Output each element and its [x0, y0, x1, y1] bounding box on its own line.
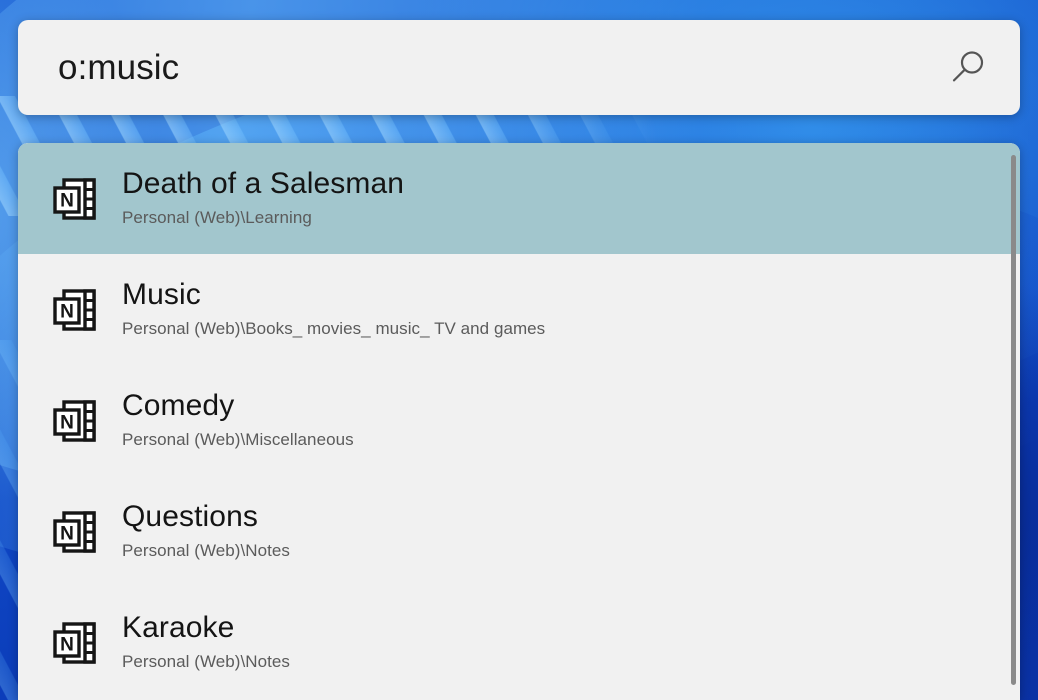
svg-text:N: N [60, 523, 74, 544]
svg-text:N: N [60, 190, 74, 211]
result-row[interactable]: NDeath of a SalesmanPersonal (Web)\Learn… [18, 143, 1020, 254]
desktop-screen: o:music NDeath of a SalesmanPersonal (We… [0, 0, 1038, 700]
onenote-icon: N [48, 393, 104, 449]
result-row[interactable]: NKaraokePersonal (Web)\Notes [18, 587, 1020, 698]
result-subtitle: Personal (Web)\Miscellaneous [122, 427, 354, 453]
search-box[interactable]: o:music [18, 20, 1020, 115]
result-title: Questions [122, 500, 290, 535]
result-row[interactable]: NComedyPersonal (Web)\Miscellaneous [18, 365, 1020, 476]
result-row[interactable]: NQuestionsPersonal (Web)\Notes [18, 476, 1020, 587]
result-text: Death of a SalesmanPersonal (Web)\Learni… [122, 167, 404, 230]
search-results-list: NDeath of a SalesmanPersonal (Web)\Learn… [18, 143, 1020, 700]
result-subtitle: Personal (Web)\Notes [122, 649, 290, 675]
onenote-icon: N [48, 171, 104, 227]
result-text: ComedyPersonal (Web)\Miscellaneous [122, 389, 354, 452]
result-row[interactable]: NMusicPersonal (Web)\Books_ movies_ musi… [18, 254, 1020, 365]
result-text: KaraokePersonal (Web)\Notes [122, 611, 290, 674]
onenote-icon: N [48, 504, 104, 560]
result-text: QuestionsPersonal (Web)\Notes [122, 500, 290, 563]
search-results-panel: NDeath of a SalesmanPersonal (Web)\Learn… [18, 143, 1020, 700]
result-title: Karaoke [122, 611, 290, 646]
onenote-icon: N [48, 615, 104, 671]
svg-text:N: N [60, 634, 74, 655]
search-icon[interactable] [944, 44, 992, 92]
result-title: Comedy [122, 389, 354, 424]
svg-text:N: N [60, 301, 74, 322]
result-subtitle: Personal (Web)\Learning [122, 205, 404, 231]
svg-text:N: N [60, 412, 74, 433]
results-scrollbar-thumb[interactable] [1011, 155, 1016, 685]
onenote-icon: N [48, 282, 104, 338]
results-scrollbar-track[interactable] [1008, 153, 1018, 700]
search-input[interactable]: o:music [58, 50, 944, 85]
result-title: Music [122, 278, 545, 313]
result-subtitle: Personal (Web)\Books_ movies_ music_ TV … [122, 316, 545, 342]
result-title: Death of a Salesman [122, 167, 404, 202]
result-subtitle: Personal (Web)\Notes [122, 538, 290, 564]
result-text: MusicPersonal (Web)\Books_ movies_ music… [122, 278, 545, 341]
